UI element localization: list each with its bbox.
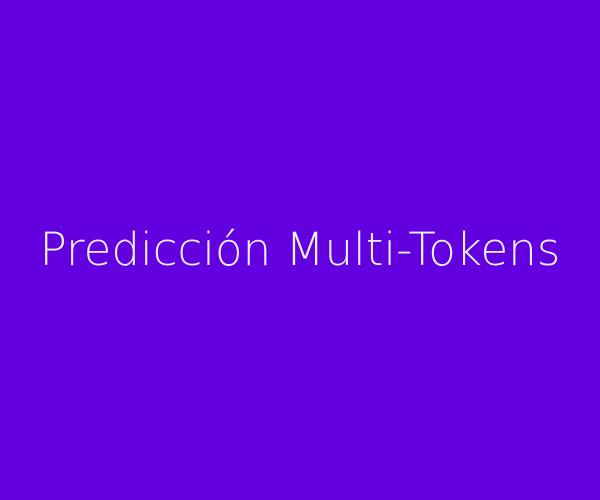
slide-title: Predicción Multi-Tokens: [24, 225, 576, 275]
title-block: Predicción Multi-Tokens: [0, 225, 600, 275]
title-slide: Predicción Multi-Tokens: [0, 0, 600, 500]
